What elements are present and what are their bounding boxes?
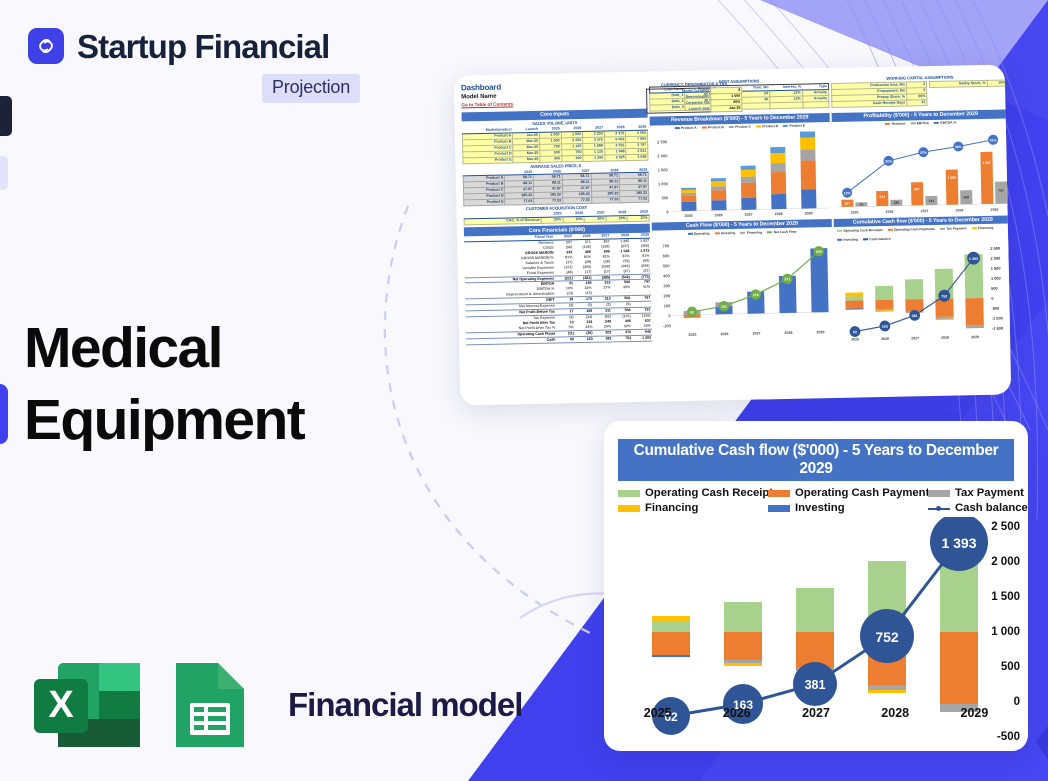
- legend-operating-cash-receipts: Operating Cash Receipts: [618, 487, 768, 499]
- legend-financing: Financing: [971, 226, 993, 230]
- svg-text:2028: 2028: [941, 336, 949, 340]
- svg-text:200: 200: [663, 294, 671, 299]
- cashflow-card-title: Cumulative Cash flow ($'000) - 5 Years t…: [618, 439, 1014, 481]
- table-row: Launch dateJan-25: [647, 105, 742, 113]
- wc-assumptions-group: Production time, Mo2 Prepayment, Mo2 Pre…: [831, 79, 1009, 107]
- legend-label: Operating Cash Payments: [795, 487, 936, 499]
- legend-label: Investing: [795, 502, 845, 514]
- profitability-chart: 297 31 571 185 857 313 1 285 506 1 927 7…: [832, 125, 1011, 217]
- wc-assumptions-table: Production time, Mo2 Prepayment, Mo2 Pre…: [831, 81, 928, 108]
- svg-text:2026: 2026: [881, 337, 889, 341]
- svg-text:10%: 10%: [844, 191, 851, 195]
- google-sheets-icon: [168, 659, 252, 751]
- legend-investing: Investing: [837, 237, 858, 241]
- svg-text:797: 797: [998, 188, 1004, 192]
- svg-text:2028: 2028: [775, 212, 783, 216]
- cashflow-plot: 62 163 381 752 1 393: [618, 517, 1014, 737]
- svg-text:2028: 2028: [956, 208, 964, 212]
- legend-operating-cash-payments: Operating Cash Payments: [768, 487, 928, 499]
- dashboard-col-inputs: Dashboard Model Name Go to Table of Cont…: [461, 80, 653, 398]
- svg-text:571: 571: [879, 195, 885, 199]
- svg-text:640: 640: [816, 250, 822, 254]
- microsoft-excel-icon: X: [32, 659, 144, 751]
- cashflow-x-axis: 2025 2026 2027 2028 2029: [618, 706, 1014, 720]
- svg-text:500: 500: [661, 195, 669, 200]
- svg-text:2025: 2025: [851, 210, 859, 214]
- svg-text:2026: 2026: [720, 332, 728, 336]
- y-tick: 1 500: [991, 591, 1020, 603]
- legend-line-marker: [928, 505, 950, 512]
- x-tick-2025: 2025: [618, 706, 697, 720]
- cashflow-bars: 700600500400 3002001000-100 6: [652, 234, 834, 340]
- legend-product-a: Product A: [675, 126, 697, 130]
- svg-text:2 000: 2 000: [657, 153, 668, 158]
- legend-tax-payment: Tax Payment: [928, 487, 1028, 499]
- svg-text:31: 31: [860, 202, 864, 206]
- svg-text:2026: 2026: [886, 209, 894, 213]
- svg-text:1 500: 1 500: [658, 167, 669, 172]
- x-tick-2026: 2026: [697, 706, 776, 720]
- legend-financing: Financing: [618, 502, 768, 514]
- svg-text:39%: 39%: [955, 145, 962, 149]
- legend-product-e: Product E: [783, 124, 805, 128]
- legend-ebitda: EBITDA: [910, 121, 929, 125]
- svg-text:1 927: 1 927: [982, 160, 990, 164]
- cumulative-bars: 2 5002 0001 5001 000 5000-500-1 000-1 50…: [834, 240, 1011, 344]
- y-tick: 1 000: [991, 626, 1020, 638]
- svg-text:0: 0: [991, 296, 993, 301]
- svg-text:2025: 2025: [688, 333, 696, 337]
- toc-link[interactable]: Go to Table of Contents: [461, 99, 647, 108]
- svg-text:1 393: 1 393: [969, 257, 978, 261]
- cashflow-plot-svg: 62 163 381 752 1 393: [618, 517, 1014, 737]
- dashboard-preview-card[interactable]: Dashboard Model Name Go to Table of Cont…: [454, 65, 1012, 406]
- y-tick: 0: [1014, 696, 1020, 708]
- svg-text:381: 381: [805, 678, 826, 692]
- spiral-logo-icon: [28, 28, 64, 64]
- svg-text:300: 300: [663, 284, 671, 289]
- legend-investing: Investing: [768, 502, 928, 514]
- svg-text:2025: 2025: [851, 338, 859, 342]
- legend-swatch-blue: [768, 505, 790, 512]
- page-title: Medical Equipment: [24, 313, 304, 457]
- legend-swatch-grey: [928, 490, 950, 497]
- svg-text:100: 100: [664, 304, 672, 309]
- svg-text:1 285: 1 285: [948, 175, 956, 179]
- svg-text:752: 752: [875, 629, 899, 645]
- svg-text:2027: 2027: [911, 337, 919, 341]
- avg-price-table: 2025 2026 2027 2028 2029 Product A58.715…: [463, 167, 650, 206]
- x-tick-2028: 2028: [856, 706, 935, 720]
- legend-cash-balance: Cash balance: [863, 237, 891, 242]
- svg-text:185: 185: [894, 200, 900, 204]
- legend-product-c: Product C: [729, 125, 751, 129]
- y-tick: 2 000: [991, 556, 1020, 568]
- dashboard-col-debt-revenue: DEBT ASSUMPTIONS Loan Name Amount, $ Lau…: [649, 76, 835, 394]
- svg-text:-1 000: -1 000: [992, 316, 1003, 321]
- legend-product-d: Product D: [756, 124, 778, 128]
- legend-label: Cash balance: [955, 502, 1028, 514]
- svg-text:2 500: 2 500: [657, 139, 668, 144]
- cac-table: 2025 2026 2027 2028 2029 CAC, % of Reven…: [464, 210, 650, 226]
- svg-text:381: 381: [912, 314, 918, 318]
- svg-text:37%: 37%: [920, 150, 927, 154]
- legend-label: Operating Cash Receipts: [645, 487, 779, 499]
- legend-tax-payment: Tax Payment: [940, 226, 967, 231]
- svg-text:0: 0: [668, 314, 671, 319]
- table-row: Cash Receipt Days21: [832, 99, 927, 107]
- svg-text:371: 371: [784, 278, 790, 282]
- cashflow-chart: 700600500400 3002001000-100 6: [652, 234, 834, 340]
- svg-text:2029: 2029: [991, 207, 999, 211]
- svg-text:62: 62: [853, 331, 857, 335]
- legend-operating-receipts: Operating Cash Receipts: [837, 228, 883, 233]
- legend-financing: Financing: [740, 230, 762, 234]
- currency-table: Model Currency$ Denomination1 000 Corpor…: [646, 87, 742, 114]
- svg-text:163: 163: [882, 325, 888, 329]
- dashboard-sheet: Dashboard Model Name Go to Table of Cont…: [454, 65, 1012, 406]
- cumulative-cashflow-card[interactable]: Cumulative Cash flow ($'000) - 5 Years t…: [604, 421, 1028, 751]
- bar-group-2027: [796, 588, 834, 671]
- svg-text:-500: -500: [991, 306, 999, 311]
- safety-stock-table: Safety Stock, %10%: [929, 79, 1007, 88]
- legend-swatch-orange: [768, 490, 790, 497]
- svg-text:218: 218: [753, 293, 759, 297]
- svg-text:2 500: 2 500: [990, 246, 1000, 251]
- core-financials-table: Fiscal Year 2025 2026 2027 2028 2029 Rev…: [464, 233, 652, 346]
- svg-text:600: 600: [663, 254, 671, 259]
- svg-text:2029: 2029: [805, 211, 813, 215]
- svg-text:2027: 2027: [921, 209, 929, 213]
- svg-text:752: 752: [941, 295, 947, 299]
- revenue-breakdown-chart: 2 5002 0001 500 1 0005000 20252026202720…: [650, 129, 832, 221]
- svg-text:2025: 2025: [685, 213, 693, 217]
- brand-logo: Startup Financial: [28, 28, 329, 64]
- y-tick: 500: [1001, 661, 1020, 673]
- svg-text:32%: 32%: [885, 159, 892, 163]
- svg-text:2027: 2027: [752, 332, 760, 336]
- svg-text:X: X: [48, 684, 74, 726]
- legend-label: Tax Payment: [955, 487, 1024, 499]
- dashboard-col-wc-profit: WORKING CAPITAL ASSUMPTIONS Production t…: [831, 72, 1011, 390]
- format-label: Financial model: [288, 686, 522, 724]
- legend-swatch-green: [618, 490, 640, 497]
- svg-text:1 000: 1 000: [991, 276, 1001, 281]
- svg-text:41%: 41%: [990, 138, 997, 142]
- legend-revenue: Revenue: [885, 122, 905, 126]
- svg-text:2029: 2029: [971, 335, 979, 339]
- sales-volume-table: Market/product Launch 2025 2026 2027 202…: [462, 124, 649, 163]
- legend-net-cash-flow: Net Cash Flow: [767, 230, 796, 235]
- legend-operating-payments: Operating Cash Payments: [887, 227, 935, 232]
- svg-text:62: 62: [690, 311, 694, 315]
- revenue-bars: 2 5002 0001 500 1 0005000 20252026202720…: [650, 129, 832, 221]
- legend-ebitda-pct: EBITDA %: [934, 121, 956, 125]
- brand-subtitle: Projection: [262, 74, 360, 103]
- cashflow-card-legend: Operating Cash Receipts Operating Cash P…: [618, 487, 1014, 514]
- legend-investing: Investing: [714, 231, 735, 235]
- spiral-glyph: [34, 34, 58, 58]
- svg-text:2028: 2028: [784, 331, 792, 335]
- svg-text:506: 506: [963, 195, 969, 199]
- bar-group-2025: [652, 616, 690, 657]
- page-title-line1: Medical: [24, 313, 304, 385]
- svg-text:2026: 2026: [715, 213, 723, 217]
- y-tick: 2 500: [991, 521, 1020, 533]
- legend-product-b: Product B: [702, 125, 724, 129]
- svg-text:1 000: 1 000: [658, 181, 669, 186]
- svg-text:-1 500: -1 500: [992, 326, 1003, 331]
- y-tick: -500: [997, 731, 1020, 743]
- page-title-line2: Equipment: [24, 385, 304, 457]
- bar-group-2026: [724, 602, 762, 666]
- cumulative-cashflow-chart: 2 5002 0001 5001 000 5000-500-1 000-1 50…: [834, 240, 1011, 344]
- legend-operating: Operating: [687, 231, 709, 235]
- svg-text:2029: 2029: [816, 331, 824, 335]
- table-row: Safety Stock, %10%: [930, 80, 1007, 88]
- legend-cash-balance: Cash balance: [928, 502, 1028, 514]
- brand-title: Startup Financial: [77, 30, 329, 63]
- currency-assumptions-block: CURRENCY, DENOMINATOR & TAX Model Curren…: [646, 80, 743, 114]
- svg-text:2027: 2027: [745, 212, 753, 216]
- svg-text:2 000: 2 000: [990, 256, 1000, 261]
- svg-text:700: 700: [662, 244, 670, 249]
- format-badges: X Financial model: [32, 659, 522, 751]
- svg-text:857: 857: [914, 187, 920, 191]
- svg-text:313: 313: [929, 199, 935, 203]
- svg-text:500: 500: [663, 264, 671, 269]
- legend-swatch-yellow: [618, 505, 640, 512]
- svg-text:101: 101: [721, 305, 727, 309]
- svg-text:297: 297: [845, 201, 851, 205]
- svg-text:400: 400: [663, 274, 671, 279]
- svg-text:500: 500: [991, 286, 998, 291]
- svg-text:1 500: 1 500: [991, 266, 1001, 271]
- cashflow-y-axis: 2 500 2 000 1 500 1 000 500 0 -500 -1 00…: [968, 517, 1024, 702]
- svg-text:0: 0: [666, 209, 669, 214]
- legend-label: Financing: [645, 502, 698, 514]
- profitability-bars: 297 31 571 185 857 313 1 285 506 1 927 7…: [832, 125, 1011, 217]
- x-tick-2027: 2027: [776, 706, 855, 720]
- svg-text:-100: -100: [663, 324, 672, 329]
- x-tick-2029: 2029: [935, 706, 1014, 720]
